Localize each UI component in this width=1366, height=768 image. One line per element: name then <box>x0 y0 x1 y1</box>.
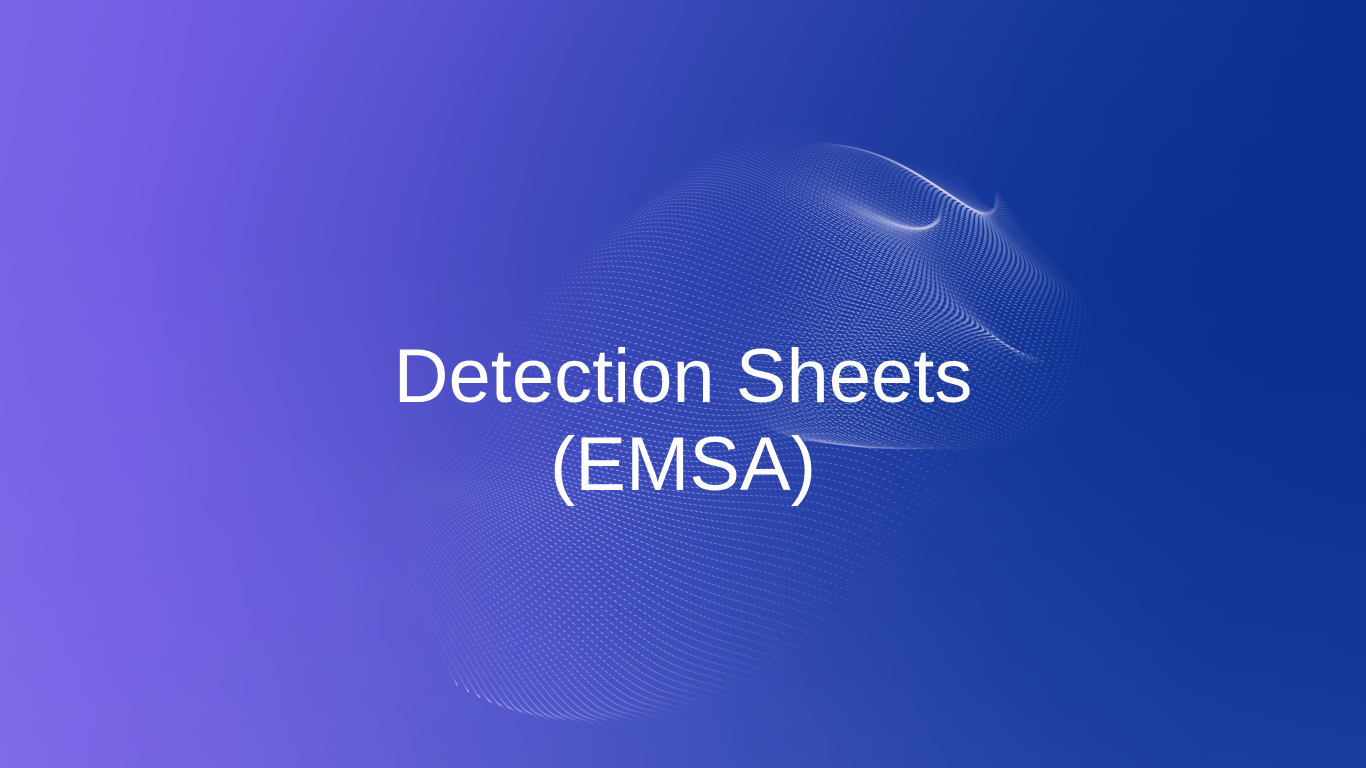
title-line-primary: Detection Sheets <box>40 333 1326 421</box>
title-slide: Detection Sheets (EMSA) <box>0 0 1366 768</box>
page-title: Detection Sheets (EMSA) <box>0 333 1366 509</box>
title-line-secondary: (EMSA) <box>40 421 1326 509</box>
